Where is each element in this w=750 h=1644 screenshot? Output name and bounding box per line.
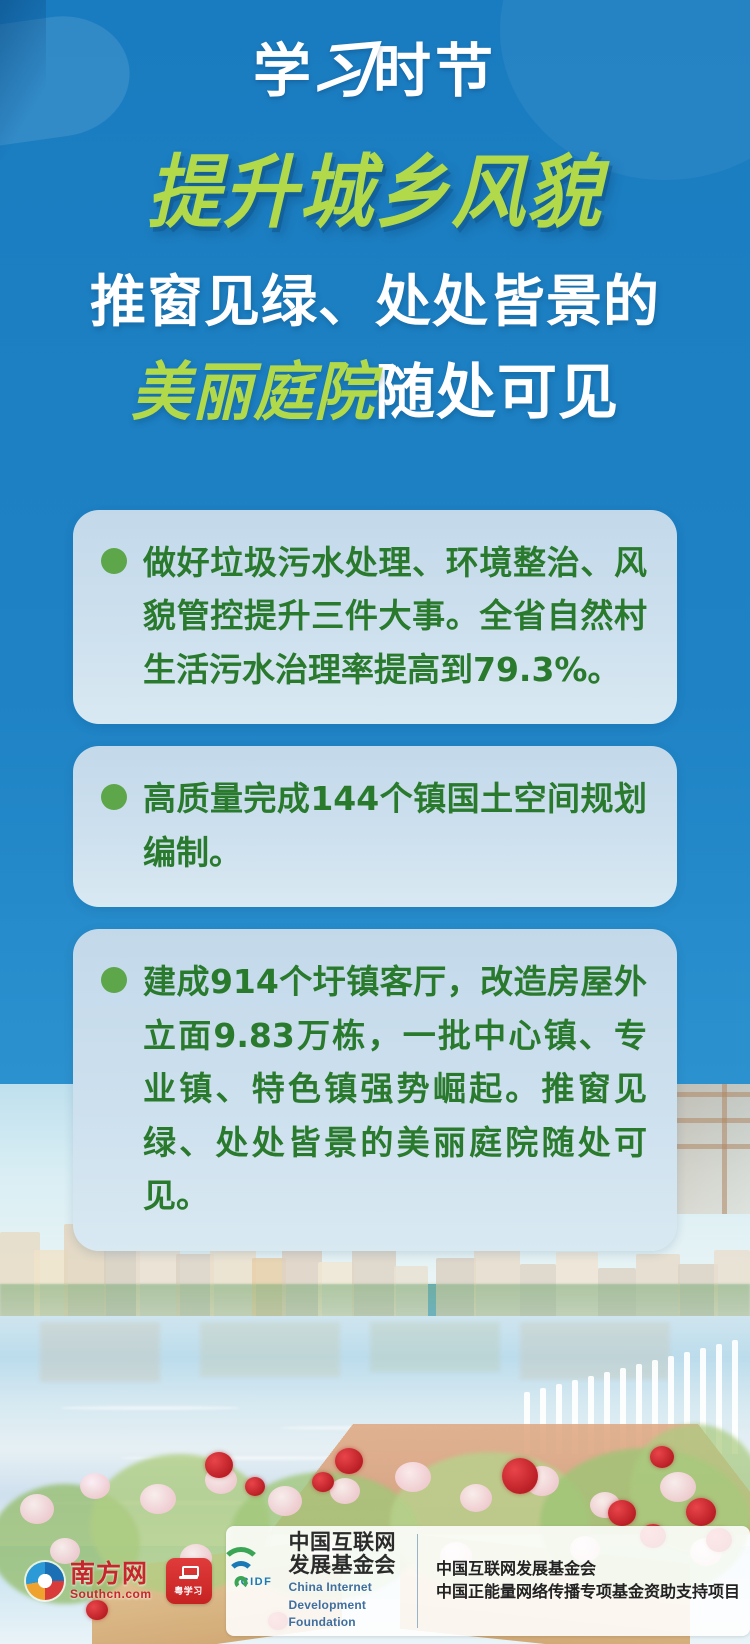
- yuexuexi-label: 粤学习: [174, 1584, 203, 1597]
- southcn-swirl-icon: [26, 1562, 64, 1600]
- bullet-card-list: 做好垃圾污水处理、环境整治、风貌管控提升三件大事。全省自然村生活污水治理率提高到…: [73, 510, 677, 1273]
- cidf-mark: CIDF: [234, 1572, 280, 1590]
- logo-char-xi: 习: [308, 39, 380, 106]
- bullet-dot-icon: [101, 784, 127, 810]
- red-flower: [686, 1498, 716, 1526]
- bullet-card-text: 高质量完成144个镇国土空间规划编制。: [143, 772, 647, 879]
- headline-highlight-phrase: 美丽庭院: [131, 358, 375, 429]
- poster-root: 学习时节 提升城乡风貌 推窗见绿、处处皆景的 美丽庭院随处可见 做好垃圾污水处理…: [0, 0, 750, 1644]
- red-flower: [245, 1477, 265, 1496]
- bullet-card-text: 建成914个圩镇客厅，改造房屋外立面9.83万栋，一批中心镇、专业镇、特色镇强势…: [143, 955, 647, 1222]
- red-flower: [502, 1458, 538, 1494]
- headline-main-title: 提升城乡风貌: [147, 152, 603, 236]
- bullet-dot-icon: [101, 548, 127, 574]
- program-logo: 学习时节: [0, 42, 750, 101]
- red-flower: [205, 1452, 233, 1478]
- project-credit-line-1: 中国互联网发展基金会: [436, 1559, 596, 1578]
- program-logo-text: 学习时节: [253, 42, 497, 101]
- southcn-logo[interactable]: 南方网 Southcn.com: [26, 1561, 152, 1602]
- red-flower: [312, 1472, 334, 1492]
- red-flower: [650, 1446, 674, 1468]
- footer-credits: 南方网 Southcn.com 粤学习 CIDF 中国互联网发展基金会 Chin…: [0, 1548, 750, 1614]
- headline-subtitle-line-1: 推窗见绿、处处皆景的: [0, 272, 750, 335]
- logo-char-xue: 学: [253, 37, 315, 105]
- bullet-dot-icon: [101, 967, 127, 993]
- bullet-card: 做好垃圾污水处理、环境整治、风貌管控提升三件大事。全省自然村生活污水治理率提高到…: [73, 510, 677, 724]
- bullet-card: 建成914个圩镇客厅，改造房屋外立面9.83万栋，一批中心镇、专业镇、特色镇强势…: [73, 929, 677, 1250]
- headline-subtitle-tail: 随处可见: [375, 358, 619, 428]
- southcn-name-en: Southcn.com: [70, 1587, 152, 1601]
- red-flower: [335, 1448, 363, 1474]
- cidf-name-cn: 中国互联网发展基金会: [289, 1530, 397, 1578]
- headline-subtitle-line-2: 美丽庭院随处可见: [0, 360, 750, 427]
- red-flower: [608, 1500, 636, 1526]
- southcn-name-cn: 南方网: [70, 1559, 148, 1588]
- footer-divider: [417, 1534, 418, 1629]
- headline-block: 提升城乡风貌: [0, 155, 750, 233]
- yuexuexi-mark-icon: [179, 1566, 198, 1583]
- bullet-card-text: 做好垃圾污水处理、环境整治、风貌管控提升三件大事。全省自然村生活污水治理率提高到…: [143, 536, 647, 696]
- project-credit-line-2: 中国正能量网络传播专项基金资助支持项目: [436, 1582, 740, 1601]
- cidf-name-en: China Internet Development Foundation: [289, 1580, 372, 1630]
- yuexuexi-app-logo[interactable]: 粤学习: [166, 1558, 212, 1604]
- cidf-logo-block[interactable]: CIDF 中国互联网发展基金会 China Internet Developme…: [226, 1526, 750, 1637]
- logo-char-shijie: 时节: [373, 37, 497, 105]
- bullet-card: 高质量完成144个镇国土空间规划编制。: [73, 746, 677, 907]
